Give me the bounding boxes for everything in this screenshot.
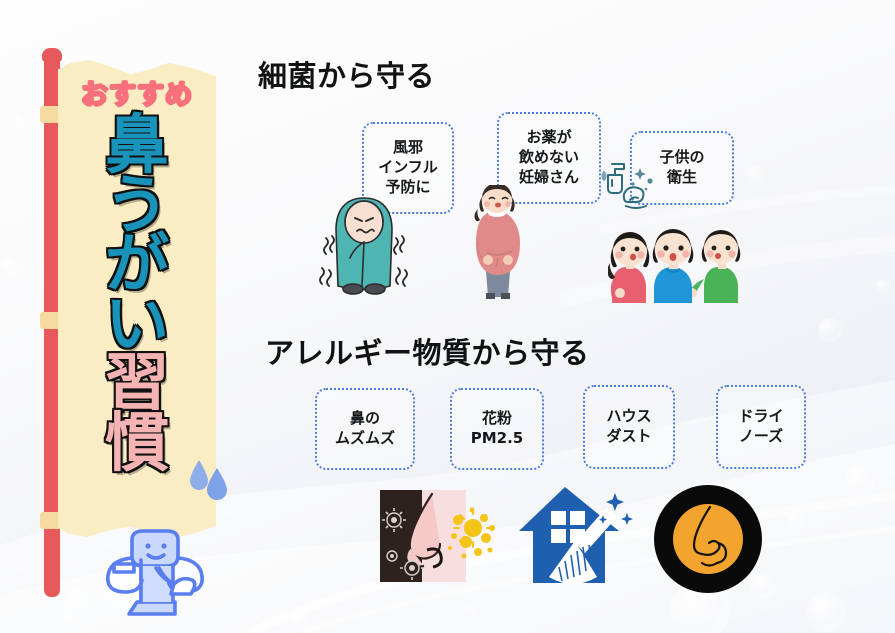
chip-dust-line-2: ダスト — [606, 427, 651, 447]
banner-title-vertical: 鼻 う が い 習 慣 — [105, 117, 169, 474]
banner-title-char-6: 慣 — [105, 415, 169, 475]
chip-dry-line-1: ドライ — [738, 407, 783, 427]
nobori-banner: おすすめ 鼻 う が い 習 慣 — [18, 40, 248, 600]
children-hygiene-icon — [608, 205, 748, 310]
chip-itchy-nose[interactable]: 鼻の ムズムズ — [315, 388, 415, 470]
banner-title-char-5: 習 — [105, 355, 169, 415]
section-title-allergy: アレルギー物質から守る — [265, 330, 590, 372]
chip-flu-line-1: 風邪 — [393, 138, 423, 158]
chip-pollen-line-1: 花粉 — [482, 409, 512, 429]
chip-flu-line-2: インフル — [378, 158, 438, 178]
nose-pollen-icon — [380, 490, 496, 591]
chip-pollen-pm25[interactable]: 花粉 PM2.5 — [450, 388, 544, 470]
shivering-person-icon — [312, 190, 416, 305]
nasal-irrigation-person-icon — [96, 528, 220, 633]
chip-pregnant-line-1: お薬が — [526, 128, 571, 148]
chip-itchy-line-1: 鼻の — [350, 409, 380, 429]
chip-dry-nose[interactable]: ドライ ノーズ — [716, 385, 806, 469]
dry-nose-icon — [652, 483, 764, 600]
banner-title-char-1: 鼻 — [105, 117, 169, 177]
banner-badge-label: おすすめ — [81, 82, 193, 109]
pregnant-woman-icon — [458, 185, 538, 306]
water-drop-icon — [186, 458, 232, 505]
chip-dust-line-1: ハウス — [606, 407, 651, 427]
chip-pollen-line-2: PM2.5 — [471, 429, 524, 449]
house-cleaning-icon — [515, 483, 633, 598]
chip-dry-line-2: ノーズ — [739, 427, 783, 447]
banner-title-char-3: が — [105, 236, 169, 296]
section-title-bacteria: 細菌から守る — [258, 53, 435, 95]
poster-canvas: おすすめ 鼻 う が い 習 慣 — [0, 0, 895, 633]
chip-house-dust[interactable]: ハウス ダスト — [583, 385, 675, 469]
chip-itchy-line-2: ムズムズ — [335, 429, 395, 449]
chip-kids-line-1: 子供の — [659, 148, 704, 168]
chip-kids-line-2: 衛生 — [667, 168, 697, 188]
chip-pregnant-line-2: 飲めない — [519, 148, 579, 168]
